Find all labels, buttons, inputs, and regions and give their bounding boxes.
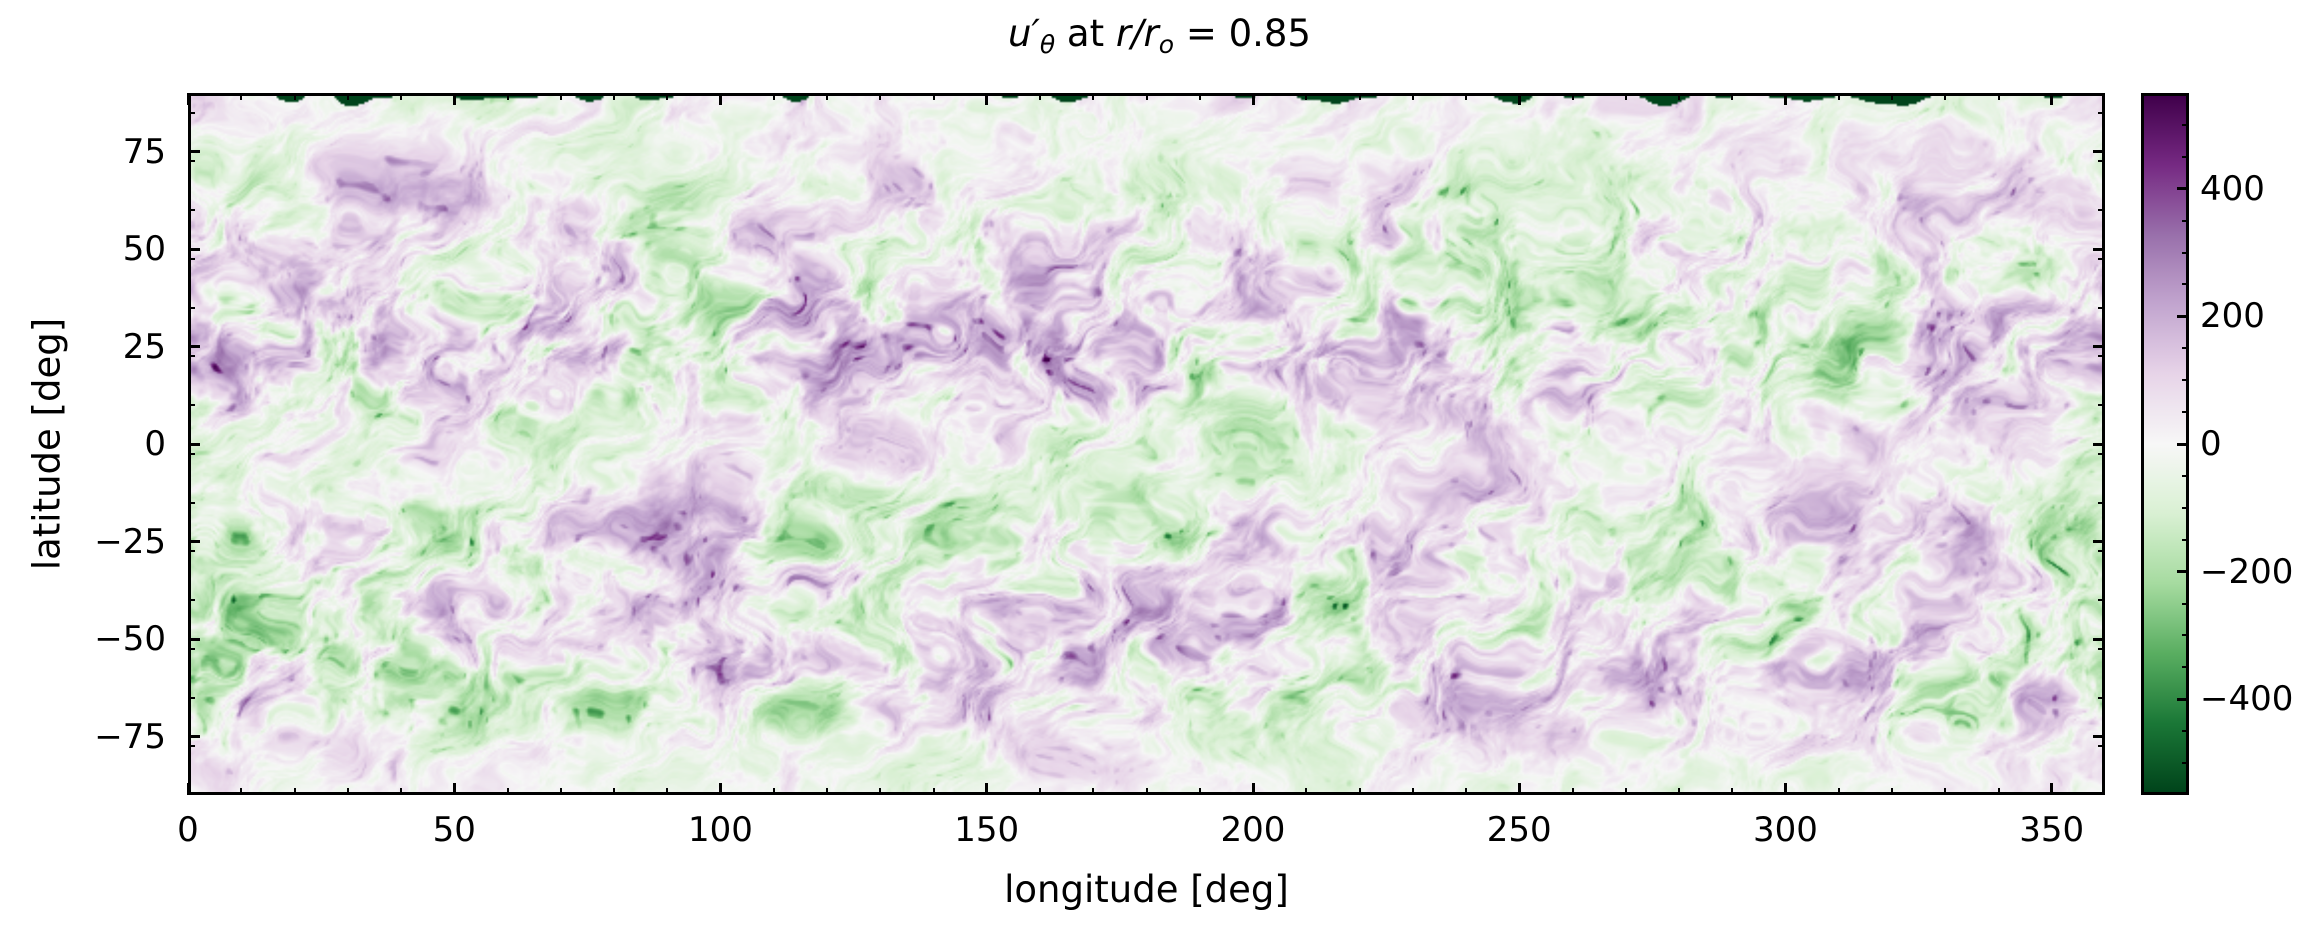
x-tick-minor-top xyxy=(1412,93,1414,100)
y-tick-major xyxy=(188,443,200,446)
x-tick-minor xyxy=(1572,788,1574,795)
y-tick-minor-right xyxy=(2098,697,2105,699)
y-tick-minor xyxy=(188,355,195,357)
colorbar-tick-minor xyxy=(2182,124,2189,126)
x-tick-minor-top xyxy=(1039,93,1041,100)
x-tick-minor-top xyxy=(773,93,775,100)
x-tick-minor xyxy=(1465,788,1467,795)
y-tick-minor-right xyxy=(2098,648,2105,650)
y-tick-minor xyxy=(188,550,195,552)
y-tick-major xyxy=(188,638,200,641)
x-tick-minor xyxy=(826,788,828,795)
y-tick-minor xyxy=(188,307,195,309)
x-tick-minor-top xyxy=(879,93,881,100)
title-ratio-denominator-sub: o xyxy=(1159,30,1174,59)
x-tick-minor-top xyxy=(666,93,668,100)
colorbar-tick-minor xyxy=(2182,411,2189,413)
x-tick-minor xyxy=(1625,788,1627,795)
x-tick-label: 200 xyxy=(1221,810,1286,850)
y-tick-minor xyxy=(188,745,195,747)
colorbar-tick-label: −400 xyxy=(2200,679,2293,719)
x-tick-major-top xyxy=(1252,93,1255,105)
colorbar-tick-major xyxy=(2177,443,2189,446)
y-tick-major-right xyxy=(2093,248,2105,251)
x-tick-minor-top xyxy=(826,93,828,100)
x-tick-minor xyxy=(1891,788,1893,795)
colorbar-tick-minor xyxy=(2182,475,2189,477)
y-tick-minor xyxy=(188,258,195,260)
colorbar-tick-minor xyxy=(2182,220,2189,222)
y-tick-minor-right xyxy=(2098,258,2105,260)
y-tick-minor xyxy=(188,404,195,406)
colorbar-tick-minor xyxy=(2182,252,2189,254)
title-ratio-slash: / xyxy=(1131,12,1143,55)
y-tick-minor xyxy=(188,209,195,211)
x-tick-minor xyxy=(1199,788,1201,795)
x-tick-minor-top xyxy=(1891,93,1893,100)
x-tick-major-top xyxy=(453,93,456,105)
colorbar-tick-minor xyxy=(2182,634,2189,636)
x-tick-major xyxy=(1784,783,1787,795)
y-tick-minor-right xyxy=(2098,209,2105,211)
y-tick-minor-right xyxy=(2098,355,2105,357)
y-tick-major xyxy=(188,345,200,348)
y-tick-major-right xyxy=(2093,735,2105,738)
y-tick-minor xyxy=(188,599,195,601)
x-tick-major xyxy=(719,783,722,795)
x-tick-minor xyxy=(1359,788,1361,795)
x-tick-minor-top xyxy=(1838,93,1840,100)
colorbar-tick-major xyxy=(2177,187,2189,190)
y-tick-minor xyxy=(188,160,195,162)
x-tick-minor-top xyxy=(1678,93,1680,100)
y-tick-minor xyxy=(188,112,195,114)
x-tick-minor-top xyxy=(1359,93,1361,100)
title-subscript-theta: θ xyxy=(1040,30,1055,59)
x-tick-label: 250 xyxy=(1487,810,1552,850)
x-tick-major xyxy=(2050,783,2053,795)
colorbar-tick-minor xyxy=(2182,603,2189,605)
x-tick-minor xyxy=(1998,788,2000,795)
x-tick-minor-top xyxy=(1199,93,1201,100)
y-axis-label: latitude [deg] xyxy=(26,318,69,570)
y-tick-minor xyxy=(188,502,195,504)
y-axis-label-wrapper: latitude [deg] xyxy=(22,93,72,795)
x-tick-minor-top xyxy=(1092,93,1094,100)
x-tick-label: 350 xyxy=(2019,810,2084,850)
y-tick-major-right xyxy=(2093,443,2105,446)
colorbar-tick-minor xyxy=(2182,379,2189,381)
y-tick-minor-right xyxy=(2098,599,2105,601)
y-tick-major xyxy=(188,735,200,738)
heatmap-axes xyxy=(188,93,2105,795)
x-tick-minor xyxy=(1092,788,1094,795)
figure-canvas: u′θ at r/ro = 0.85 050100150200250300350… xyxy=(0,0,2319,943)
x-tick-major-top xyxy=(2050,93,2053,105)
x-tick-minor xyxy=(933,788,935,795)
x-tick-minor xyxy=(666,788,668,795)
x-tick-minor xyxy=(1039,788,1041,795)
velocity-field-heatmap xyxy=(191,96,2102,792)
colorbar-tick-minor xyxy=(2182,762,2189,764)
y-tick-major-right xyxy=(2093,638,2105,641)
y-tick-minor xyxy=(188,453,195,455)
y-tick-major xyxy=(188,150,200,153)
title-symbol-u: u xyxy=(1008,12,1031,55)
x-tick-minor-top xyxy=(560,93,562,100)
colorbar-tick-minor xyxy=(2182,539,2189,541)
x-tick-minor xyxy=(879,788,881,795)
x-tick-major-top xyxy=(1784,93,1787,105)
y-tick-minor xyxy=(188,648,195,650)
colorbar-tick-minor xyxy=(2182,347,2189,349)
x-tick-major-top xyxy=(187,93,190,105)
x-tick-minor-top xyxy=(240,93,242,100)
colorbar-tick-minor xyxy=(2182,666,2189,668)
title-ratio-denominator: r xyxy=(1144,12,1159,55)
title-middle: at xyxy=(1055,12,1116,55)
x-tick-minor-top xyxy=(613,93,615,100)
y-tick-major-right xyxy=(2093,345,2105,348)
x-tick-minor-top xyxy=(1625,93,1627,100)
x-tick-minor xyxy=(560,788,562,795)
x-tick-label: 0 xyxy=(177,810,199,850)
x-tick-label: 50 xyxy=(433,810,476,850)
x-axis-label: longitude [deg] xyxy=(188,868,2105,911)
x-tick-minor-top xyxy=(1305,93,1307,100)
colorbar-tick-major xyxy=(2177,698,2189,701)
x-tick-minor-top xyxy=(1731,93,1733,100)
colorbar-tick-minor xyxy=(2182,156,2189,158)
x-tick-minor xyxy=(613,788,615,795)
x-tick-major xyxy=(1252,783,1255,795)
x-tick-major-top xyxy=(1518,93,1521,105)
colorbar-tick-major xyxy=(2177,570,2189,573)
x-tick-minor xyxy=(507,788,509,795)
y-tick-minor-right xyxy=(2098,745,2105,747)
x-tick-minor-top xyxy=(1465,93,1467,100)
title-prime: ′ xyxy=(1031,12,1039,55)
x-tick-minor xyxy=(1731,788,1733,795)
y-tick-major xyxy=(188,248,200,251)
x-tick-minor-top xyxy=(507,93,509,100)
x-tick-minor xyxy=(773,788,775,795)
colorbar-tick-label: 0 xyxy=(2200,424,2222,464)
x-tick-minor-top xyxy=(933,93,935,100)
y-tick-minor-right xyxy=(2098,307,2105,309)
x-tick-minor-top xyxy=(347,93,349,100)
x-tick-minor xyxy=(1412,788,1414,795)
x-tick-major xyxy=(453,783,456,795)
heatmap-canvas xyxy=(191,96,2102,792)
x-tick-minor xyxy=(1838,788,1840,795)
x-tick-major xyxy=(187,783,190,795)
colorbar-tick-minor xyxy=(2182,283,2189,285)
title-value: 0.85 xyxy=(1229,12,1311,55)
x-tick-minor xyxy=(1305,788,1307,795)
colorbar-tick-minor xyxy=(2182,730,2189,732)
x-tick-label: 100 xyxy=(688,810,753,850)
y-tick-major-right xyxy=(2093,150,2105,153)
x-tick-major xyxy=(985,783,988,795)
y-tick-minor-right xyxy=(2098,550,2105,552)
y-tick-minor-right xyxy=(2098,502,2105,504)
colorbar-tick-minor xyxy=(2182,507,2189,509)
title-ratio-numerator: r xyxy=(1116,12,1131,55)
title-equals: = xyxy=(1174,12,1229,55)
y-tick-minor-right xyxy=(2098,160,2105,162)
x-tick-minor-top xyxy=(1944,93,1946,100)
x-tick-minor xyxy=(1678,788,1680,795)
x-tick-minor xyxy=(294,788,296,795)
x-tick-minor xyxy=(1944,788,1946,795)
x-tick-minor xyxy=(400,788,402,795)
y-tick-minor-right xyxy=(2098,404,2105,406)
x-tick-major-top xyxy=(719,93,722,105)
x-tick-minor-top xyxy=(400,93,402,100)
y-tick-minor xyxy=(188,697,195,699)
x-tick-minor-top xyxy=(1572,93,1574,100)
y-tick-minor-right xyxy=(2098,112,2105,114)
colorbar-tick-label: −200 xyxy=(2200,552,2293,592)
x-tick-minor xyxy=(347,788,349,795)
x-tick-minor-top xyxy=(1146,93,1148,100)
plot-title: u′θ at r/ro = 0.85 xyxy=(0,12,2319,59)
y-tick-major-right xyxy=(2093,540,2105,543)
y-tick-minor-right xyxy=(2098,453,2105,455)
colorbar-tick-major xyxy=(2177,315,2189,318)
colorbar-tick-label: 200 xyxy=(2200,296,2265,336)
colorbar-tick-label: 400 xyxy=(2200,169,2265,209)
x-tick-minor xyxy=(240,788,242,795)
x-tick-major xyxy=(1518,783,1521,795)
x-tick-label: 150 xyxy=(954,810,1019,850)
x-tick-minor-top xyxy=(294,93,296,100)
x-tick-minor xyxy=(1146,788,1148,795)
y-tick-major xyxy=(188,540,200,543)
x-tick-label: 300 xyxy=(1753,810,1818,850)
x-tick-major-top xyxy=(985,93,988,105)
x-tick-minor-top xyxy=(1998,93,2000,100)
